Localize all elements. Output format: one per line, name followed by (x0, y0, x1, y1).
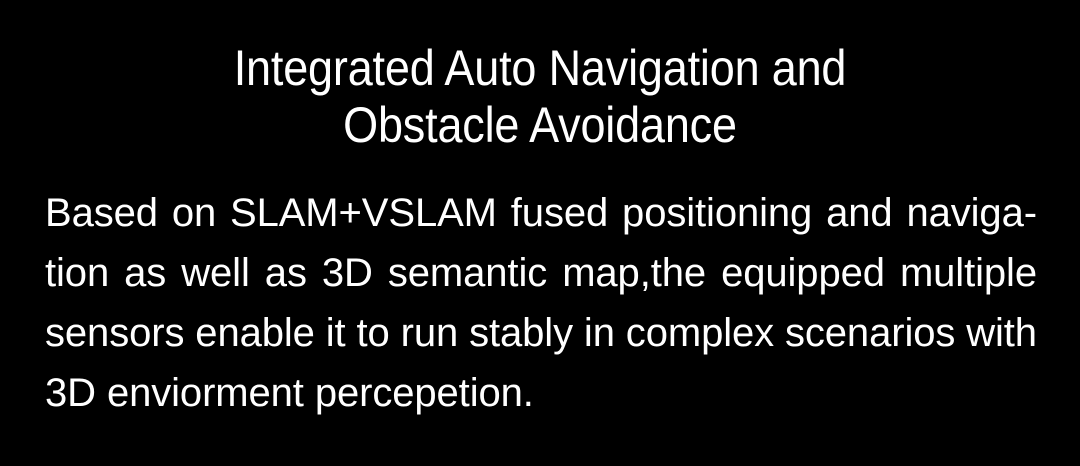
body-word: stably (469, 303, 573, 363)
body-word: on (172, 183, 216, 243)
description-paragraph: Based on SLAM+VSLAM fused positioning an… (45, 183, 1037, 423)
body-word: with (966, 303, 1037, 363)
body-word: fused (511, 183, 608, 243)
body-word: it (326, 303, 346, 363)
body-word: as (124, 243, 166, 303)
body-word: semantic (388, 243, 547, 303)
body-word: enable (195, 303, 315, 363)
body-line-2: tion as well as 3D semantic map,the equi… (45, 243, 1037, 303)
body-word: SLAM+VSLAM (230, 183, 497, 243)
body-word: as (265, 243, 307, 303)
body-word: complex (626, 303, 774, 363)
body-line-4: 3D enviorment percepetion. (45, 363, 1037, 423)
body-word: run (401, 303, 459, 363)
body-word: scenarios (785, 303, 955, 363)
title-line-1: Integrated Auto Navigation and (54, 40, 1026, 97)
body-word: and (826, 183, 892, 243)
body-word: map,the (562, 243, 706, 303)
body-word: in (584, 303, 615, 363)
body-word: tion (45, 243, 109, 303)
title-line-2: Obstacle Avoidance (54, 97, 1026, 154)
body-word: to (357, 303, 390, 363)
body-word: positioning (622, 183, 812, 243)
body-line-1: Based on SLAM+VSLAM fused positioning an… (45, 183, 1037, 243)
body-word: multiple (900, 243, 1037, 303)
slide-canvas: Integrated Auto Navigation and Obstacle … (0, 0, 1080, 466)
body-word: sensors (45, 303, 184, 363)
body-word: Based (45, 183, 158, 243)
page-title: Integrated Auto Navigation and Obstacle … (0, 40, 1080, 154)
body-line-3: sensors enable it to run stably in compl… (45, 303, 1037, 363)
body-word: naviga- (906, 183, 1037, 243)
body-word: equipped (721, 243, 885, 303)
body-word: well (181, 243, 250, 303)
body-word: 3D (322, 243, 373, 303)
